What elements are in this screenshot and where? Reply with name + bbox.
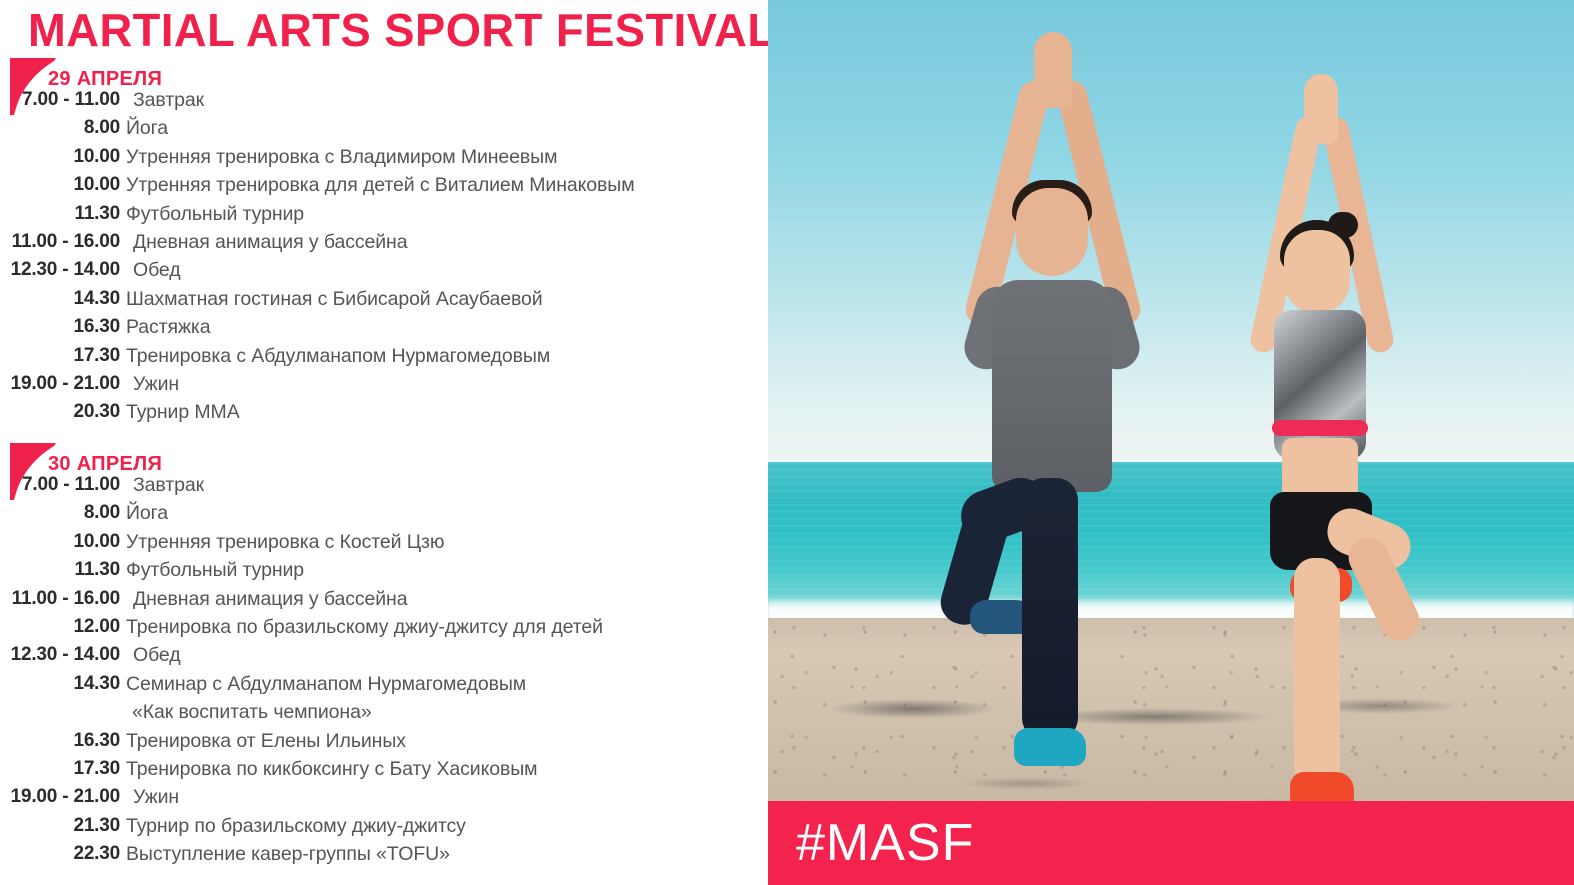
schedule-description: «Как воспитать чемпиона» — [132, 701, 372, 724]
schedule-time: 8.00 — [0, 117, 120, 139]
schedule-row: 10.00Утренняя тренировка с Костей Цзю — [0, 530, 768, 558]
schedule-row: 21.30Турнир по бразильскому джиу-джитсу — [0, 814, 768, 842]
schedule-row: 7.00 - 11.00Завтрак — [0, 473, 768, 501]
schedule-time: 14.30 — [0, 288, 120, 310]
schedule-description: Выступление кавер-группы «TOFU» — [126, 843, 450, 866]
schedule-row: 10.00Утренняя тренировка для детей с Вит… — [0, 173, 768, 201]
hashtag-banner: #MASF — [768, 801, 1574, 885]
schedule-description: Семинар с Абдулманапом Нурмагомедовым — [126, 673, 526, 696]
day-rows: 7.00 - 11.00Завтрак8.00Йога10.00Утренняя… — [0, 473, 768, 870]
schedule-row: 14.30Семинар с Абдулманапом Нурмагомедов… — [0, 672, 768, 700]
figure-woman-yoga-pose — [1198, 120, 1448, 780]
schedule-description: Йога — [126, 117, 168, 140]
schedule-row: 16.30Растяжка — [0, 315, 768, 343]
schedule-description: Обед — [133, 259, 181, 282]
schedule-panel: MARTIAL ARTS SPORT FESTIVAL 29 АПРЕЛЯ 7.… — [0, 0, 768, 885]
schedule-time: 20.30 — [0, 401, 120, 423]
schedule-time: 11.30 — [0, 203, 120, 225]
figure-man-yoga-pose — [918, 80, 1188, 780]
schedule-time: 19.00 - 21.00 — [0, 373, 120, 395]
schedule-description: Завтрак — [133, 474, 204, 497]
schedule-row: 11.30Футбольный турнир — [0, 558, 768, 586]
schedule-row: 8.00Йога — [0, 116, 768, 144]
schedule-row: 17.30Тренировка по кикбоксингу с Бату Ха… — [0, 757, 768, 785]
schedule-row: 12.30 - 14.00Обед — [0, 643, 768, 671]
schedule-description: Тренировка по бразильскому джиу-джитсу д… — [126, 616, 603, 639]
schedule-time: 16.30 — [0, 730, 120, 752]
schedule-description: Дневная анимация у бассейна — [133, 231, 407, 254]
schedule-time: 22.30 — [0, 843, 120, 865]
hashtag-label: #MASF — [796, 817, 974, 869]
schedule-description: Растяжка — [126, 316, 211, 339]
schedule-description: Турнир по бразильскому джиу-джитсу — [126, 815, 466, 838]
schedule-row: «Как воспитать чемпиона» — [0, 700, 768, 728]
schedule-time: 10.00 — [0, 146, 120, 168]
schedule-time: 11.30 — [0, 559, 120, 581]
schedule-row: 8.00Йога — [0, 501, 768, 529]
schedule-time: 17.30 — [0, 345, 120, 367]
schedule-description: Тренировка от Елены Ильиных — [126, 730, 406, 753]
schedule-time: 17.30 — [0, 758, 120, 780]
schedule-row: 12.30 - 14.00Обед — [0, 258, 768, 286]
schedule-time: 10.00 — [0, 174, 120, 196]
schedule-time: 12.30 - 14.00 — [0, 259, 120, 281]
schedule-row: 10.00Утренняя тренировка с Владимиром Ми… — [0, 145, 768, 173]
schedule-description: Утренняя тренировка с Костей Цзю — [126, 531, 444, 554]
schedule-time: 11.00 - 16.00 — [0, 231, 120, 253]
schedule-row: 19.00 - 21.00Ужин — [0, 372, 768, 400]
schedule-description: Футбольный турнир — [126, 559, 304, 582]
schedule-row: 19.00 - 21.00Ужин — [0, 785, 768, 813]
schedule-time: 7.00 - 11.00 — [0, 474, 120, 496]
schedule-description: Футбольный турнир — [126, 203, 304, 226]
schedule-time: 16.30 — [0, 316, 120, 338]
schedule-row: 20.30Турнир ММА — [0, 400, 768, 428]
schedule-time: 14.30 — [0, 673, 120, 695]
schedule-row: 16.30Тренировка от Елены Ильиных — [0, 729, 768, 757]
schedule-time: 11.00 - 16.00 — [0, 588, 120, 610]
schedule-row: 14.30Шахматная гостиная с Бибисарой Асау… — [0, 287, 768, 315]
schedule-description: Завтрак — [133, 89, 204, 112]
schedule-description: Шахматная гостиная с Бибисарой Асаубаево… — [126, 288, 543, 311]
schedule-time: 8.00 — [0, 502, 120, 524]
schedule-row: 11.30Футбольный турнир — [0, 202, 768, 230]
schedule-description: Турнир ММА — [126, 401, 240, 424]
schedule-time: 19.00 - 21.00 — [0, 786, 120, 808]
poster: MARTIAL ARTS SPORT FESTIVAL 29 АПРЕЛЯ 7.… — [0, 0, 1574, 885]
schedule-time: 12.00 — [0, 616, 120, 638]
page-title: MARTIAL ARTS SPORT FESTIVAL — [28, 6, 775, 54]
schedule-row: 11.00 - 16.00Дневная анимация у бассейна — [0, 587, 768, 615]
schedule-time: 21.30 — [0, 815, 120, 837]
schedule-description: Утренняя тренировка для детей с Виталием… — [126, 174, 635, 197]
schedule-row: 22.30Выступление кавер-группы «TOFU» — [0, 842, 768, 870]
hero-photo: #MASF — [768, 0, 1574, 885]
schedule-time: 10.00 — [0, 531, 120, 553]
schedule-description: Тренировка с Абдулманапом Нурмагомедовым — [126, 345, 550, 368]
schedule-description: Тренировка по кикбоксингу с Бату Хасиков… — [126, 758, 537, 781]
schedule-description: Йога — [126, 502, 168, 525]
schedule-row: 7.00 - 11.00Завтрак — [0, 88, 768, 116]
schedule-description: Ужин — [133, 786, 179, 809]
schedule-row: 11.00 - 16.00Дневная анимация у бассейна — [0, 230, 768, 258]
schedule-description: Дневная анимация у бассейна — [133, 588, 407, 611]
schedule-time: 12.30 - 14.00 — [0, 644, 120, 666]
schedule-time: 7.00 - 11.00 — [0, 89, 120, 111]
schedule-description: Обед — [133, 644, 181, 667]
schedule-description: Утренняя тренировка с Владимиром Минеевы… — [126, 146, 557, 169]
schedule-row: 17.30Тренировка с Абдулманапом Нурмагоме… — [0, 344, 768, 372]
schedule-description: Ужин — [133, 373, 179, 396]
schedule-row: 12.00Тренировка по бразильскому джиу-джи… — [0, 615, 768, 643]
day-rows: 7.00 - 11.00Завтрак8.00Йога10.00Утренняя… — [0, 88, 768, 429]
